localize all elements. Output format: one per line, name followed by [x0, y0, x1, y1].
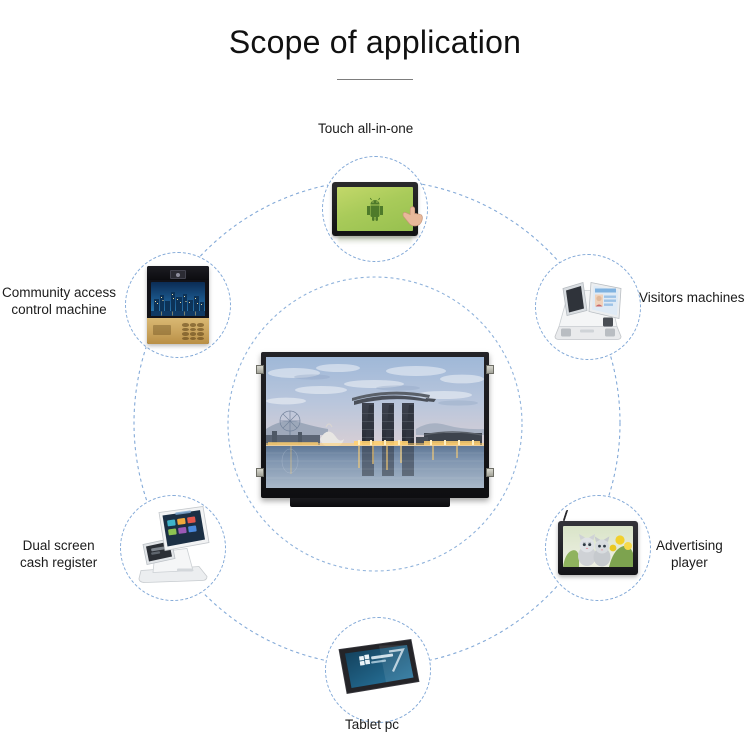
node-touch-all-in-one[interactable]: [322, 156, 428, 262]
node-advertising-player[interactable]: [545, 495, 651, 601]
page-title: Scope of application: [0, 24, 750, 61]
marina-bay-sands-photo: [266, 357, 484, 488]
tablet-pc-device: [333, 636, 423, 705]
panel-bracket: [486, 468, 494, 477]
kittens-screen-image: [563, 526, 633, 567]
android-robot-icon: [364, 197, 386, 221]
panel-bracket: [256, 468, 264, 477]
label-dual-screen-cash-register: Dual screen cash register: [20, 537, 97, 571]
label-community-access-control-machine: Community access control machine: [2, 284, 116, 318]
city-skyline-screen: [151, 282, 205, 316]
label-touch-all-in-one: Touch all-in-one: [318, 120, 413, 137]
panel-screen-image: [266, 357, 484, 488]
node-tablet-pc[interactable]: [325, 617, 431, 723]
node-dual-screen-cash-register[interactable]: [120, 495, 226, 601]
panel-bracket: [486, 365, 494, 374]
visitor-kiosk-icon: [547, 267, 629, 343]
panel-bracket: [256, 365, 264, 374]
node-visitors-machines[interactable]: [535, 254, 641, 360]
keypad-keys[interactable]: [182, 323, 204, 340]
node-community-access-control-machine[interactable]: [125, 252, 231, 358]
center-lcd-panel: [261, 352, 489, 498]
card-reader-area: [153, 325, 171, 335]
camera-icon: [170, 270, 186, 279]
label-advertising-player: Advertising player: [656, 537, 723, 571]
touch-all-in-one-device: [332, 182, 418, 236]
scope-of-application-diagram: Scope of application: [0, 0, 750, 750]
advertising-player-device: [558, 521, 638, 575]
pointing-hand-icon: [400, 202, 430, 228]
title-divider: [337, 79, 413, 80]
label-visitors-machines: Visitors machines: [639, 289, 745, 306]
visitor-kiosk-device: [547, 267, 629, 348]
dual-screen-pos-device: [133, 505, 213, 592]
pos-terminal-icon: [133, 505, 213, 587]
access-control-device: [147, 266, 209, 344]
tablet-pc-icon: [333, 636, 423, 700]
panel-driver-board: [290, 498, 450, 507]
label-tablet-pc: Tablet pc: [345, 716, 399, 733]
